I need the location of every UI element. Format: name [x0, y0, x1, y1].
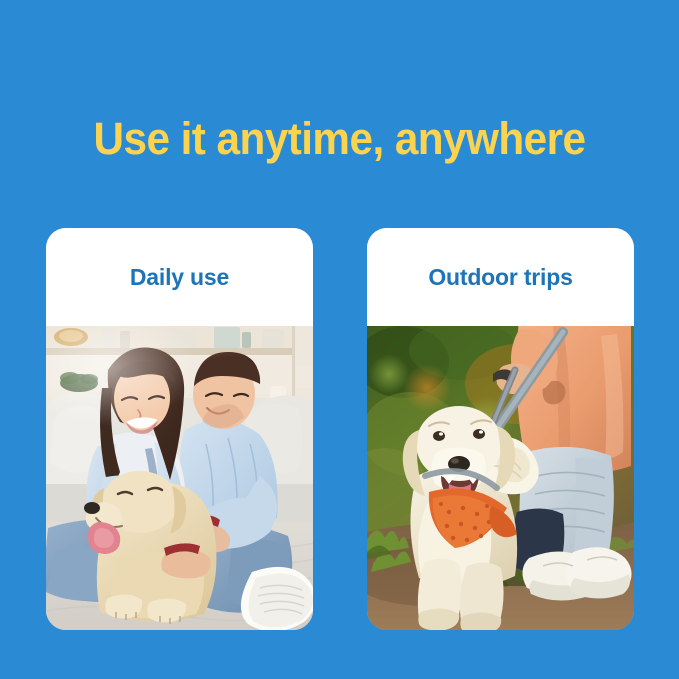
feature-card-outdoor-trips: Outdoor trips — [367, 228, 634, 630]
outdoor-trips-photo-illustration — [367, 326, 634, 630]
card-photo-outdoor-trips — [367, 326, 634, 630]
card-header-daily-use: Daily use — [46, 228, 313, 326]
card-title-daily-use: Daily use — [130, 264, 229, 290]
card-title-outdoor-trips: Outdoor trips — [428, 264, 572, 290]
feature-card-daily-use: Daily use — [46, 228, 313, 630]
promo-page: Use it anytime, anywhere Daily use — [0, 0, 679, 679]
daily-use-photo-illustration — [46, 326, 313, 630]
card-header-outdoor-trips: Outdoor trips — [367, 228, 634, 326]
page-title: Use it anytime, anywhere — [20, 112, 658, 166]
card-photo-daily-use — [46, 326, 313, 630]
feature-card-row: Daily use — [46, 228, 634, 630]
